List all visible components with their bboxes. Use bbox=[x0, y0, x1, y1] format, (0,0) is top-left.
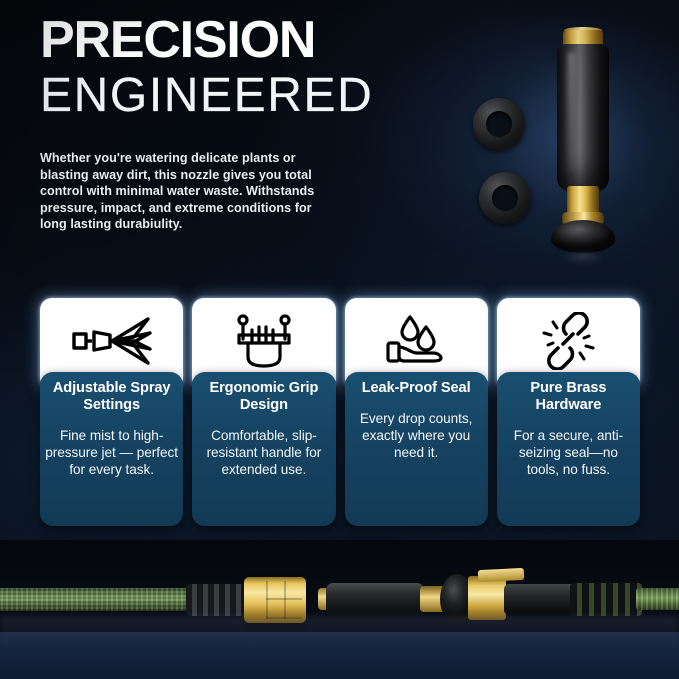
nozzle-base bbox=[551, 220, 615, 253]
product-image-nozzle bbox=[455, 12, 679, 280]
o-ring-icon bbox=[479, 172, 531, 224]
headline-bold: PRECISION bbox=[40, 14, 373, 66]
feature-card-list: Adjustable Spray Settings Fine mist to h… bbox=[40, 298, 640, 526]
feature-card-title: Pure Brass Hardware bbox=[497, 380, 640, 414]
hero-paragraph: Whether you're watering delicate plants … bbox=[40, 150, 340, 233]
infographic-canvas: PRECISION ENGINEERED Whether you're wate… bbox=[0, 0, 679, 679]
green-hose-left bbox=[0, 588, 192, 611]
hose-black-collar-left bbox=[186, 584, 248, 616]
nozzle-illustration bbox=[551, 30, 615, 255]
o-ring-icon bbox=[473, 98, 525, 150]
nozzle-grip-right bbox=[326, 583, 424, 616]
black-tube-right bbox=[504, 584, 578, 615]
feature-card-body: Pure Brass Hardware For a secure, anti-s… bbox=[497, 372, 640, 526]
strip-reflection bbox=[0, 616, 679, 650]
page-title: PRECISION ENGINEERED bbox=[40, 14, 373, 122]
feature-card-body: Adjustable Spray Settings Fine mist to h… bbox=[40, 372, 183, 526]
brass-shutoff-valve bbox=[468, 576, 506, 620]
hose-strain-relief-right bbox=[570, 583, 642, 616]
hand-grip-icon bbox=[192, 306, 335, 376]
nozzle-barrel bbox=[557, 44, 609, 192]
feature-card-title: Adjustable Spray Settings bbox=[40, 380, 183, 414]
feature-card-body: Leak-Proof Seal Every drop counts, exact… bbox=[345, 372, 488, 526]
green-hose-right bbox=[636, 588, 679, 610]
feature-card[interactable]: Pure Brass Hardware For a secure, anti-s… bbox=[497, 298, 640, 526]
feature-card-description: Every drop counts, exactly where you nee… bbox=[345, 410, 488, 461]
product-glow bbox=[415, 0, 679, 312]
chain-link-icon bbox=[497, 306, 640, 376]
feature-card-description: Comfortable, slip-resistant handle for e… bbox=[192, 427, 335, 478]
feature-card[interactable]: Leak-Proof Seal Every drop counts, exact… bbox=[345, 298, 488, 526]
feature-card[interactable]: Adjustable Spray Settings Fine mist to h… bbox=[40, 298, 183, 526]
spray-nozzle-icon bbox=[40, 306, 183, 376]
feature-card-body: Ergonomic Grip Design Comfortable, slip-… bbox=[192, 372, 335, 526]
feature-card-description: For a secure, anti-seizing seal—no tools… bbox=[497, 427, 640, 478]
valve-lever bbox=[478, 568, 525, 582]
feature-card[interactable]: Ergonomic Grip Design Comfortable, slip-… bbox=[192, 298, 335, 526]
feature-card-title: Leak-Proof Seal bbox=[356, 380, 477, 397]
nozzle-reflection bbox=[555, 252, 611, 282]
feature-card-title: Ergonomic Grip Design bbox=[192, 380, 335, 414]
hand-water-drop-icon bbox=[345, 306, 488, 376]
headline-light: ENGINEERED bbox=[40, 70, 373, 122]
feature-card-description: Fine mist to high-pressure jet — perfect… bbox=[40, 427, 183, 478]
